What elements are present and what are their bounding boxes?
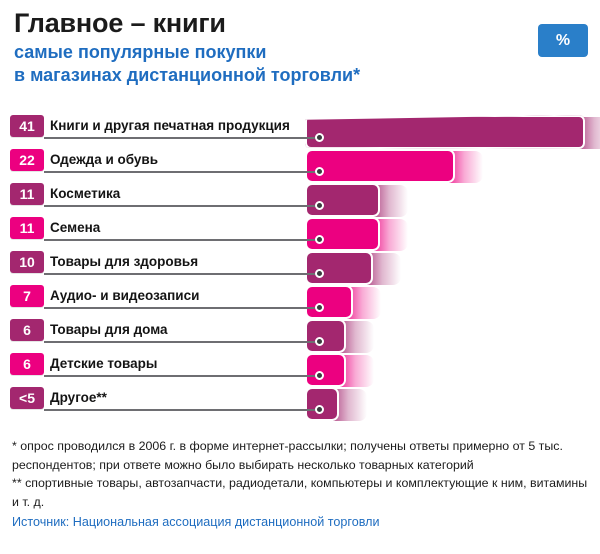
chart-row: 10Товары для здоровья <box>0 251 600 285</box>
leader-dot <box>315 405 324 414</box>
leader-line <box>44 375 319 377</box>
footnote-1: * опрос проводился в 2006 г. в форме инт… <box>12 437 590 474</box>
leader-line <box>44 409 319 411</box>
footnote-2: ** спортивные товары, автозапчасти, ради… <box>12 474 590 511</box>
leader-dot <box>315 269 324 278</box>
bar <box>305 387 339 421</box>
leader-dot <box>315 371 324 380</box>
bar <box>305 115 585 149</box>
bar <box>305 353 346 387</box>
leader-line <box>44 171 319 173</box>
leader-dot <box>315 167 324 176</box>
value-badge: 10 <box>10 251 44 273</box>
bar-fill <box>305 285 353 319</box>
source-line: Источник: Национальная ассоциация дистан… <box>12 514 380 531</box>
footnotes: * опрос проводился в 2006 г. в форме инт… <box>12 437 590 511</box>
percent-unit-badge: % <box>538 24 588 57</box>
leader-line <box>44 205 319 207</box>
bar <box>305 183 380 217</box>
chart-row: 41Книги и другая печатная продукция <box>0 115 600 149</box>
chart-row: 11Косметика <box>0 183 600 217</box>
category-label: Аудио- и видеозаписи <box>50 286 199 306</box>
bar-fill <box>305 149 455 183</box>
chart-row: 22Одежда и обувь <box>0 149 600 183</box>
header: Главное – книги самые популярные покупки… <box>14 6 584 87</box>
category-label: Другое** <box>50 388 107 408</box>
value-badge: 22 <box>10 149 44 171</box>
leader-dot <box>315 133 324 142</box>
value-badge: <5 <box>10 387 44 409</box>
leader-dot <box>315 201 324 210</box>
bar <box>305 285 353 319</box>
value-badge: 11 <box>10 217 44 239</box>
bar-fill <box>305 251 373 285</box>
leader-line <box>44 273 319 275</box>
bar-chart: 41Книги и другая печатная продукция22Оде… <box>0 115 600 425</box>
category-label: Товары для дома <box>50 320 168 340</box>
value-badge: 6 <box>10 319 44 341</box>
infographic-root: Главное – книги самые популярные покупки… <box>0 0 600 554</box>
bar-fill <box>305 115 585 149</box>
page-title: Главное – книги <box>14 6 584 40</box>
value-badge: 11 <box>10 183 44 205</box>
category-label: Одежда и обувь <box>50 150 158 170</box>
bar-fill <box>305 353 346 387</box>
category-label: Книги и другая печатная продукция <box>50 116 290 136</box>
chart-row: 11Семена <box>0 217 600 251</box>
bar <box>305 217 380 251</box>
leader-dot <box>315 337 324 346</box>
value-badge: 6 <box>10 353 44 375</box>
leader-dot <box>315 235 324 244</box>
category-label: Детские товары <box>50 354 157 374</box>
chart-row: 6Товары для дома <box>0 319 600 353</box>
page-subtitle: самые популярные покупки в магазинах дис… <box>14 41 584 87</box>
category-label: Семена <box>50 218 100 238</box>
chart-row: 7Аудио- и видеозаписи <box>0 285 600 319</box>
category-label: Товары для здоровья <box>50 252 198 272</box>
bar <box>305 149 455 183</box>
bar <box>305 251 373 285</box>
bar-fill <box>305 387 339 421</box>
leader-line <box>44 239 319 241</box>
chart-row: <5Другое** <box>0 387 600 421</box>
value-badge: 7 <box>10 285 44 307</box>
leader-line <box>44 137 319 139</box>
chart-row: 6Детские товары <box>0 353 600 387</box>
bar-fill <box>305 319 346 353</box>
leader-line <box>44 341 319 343</box>
leader-line <box>44 307 319 309</box>
value-badge: 41 <box>10 115 44 137</box>
leader-dot <box>315 303 324 312</box>
bar <box>305 319 346 353</box>
bar-fill <box>305 183 380 217</box>
category-label: Косметика <box>50 184 120 204</box>
bar-fill <box>305 217 380 251</box>
